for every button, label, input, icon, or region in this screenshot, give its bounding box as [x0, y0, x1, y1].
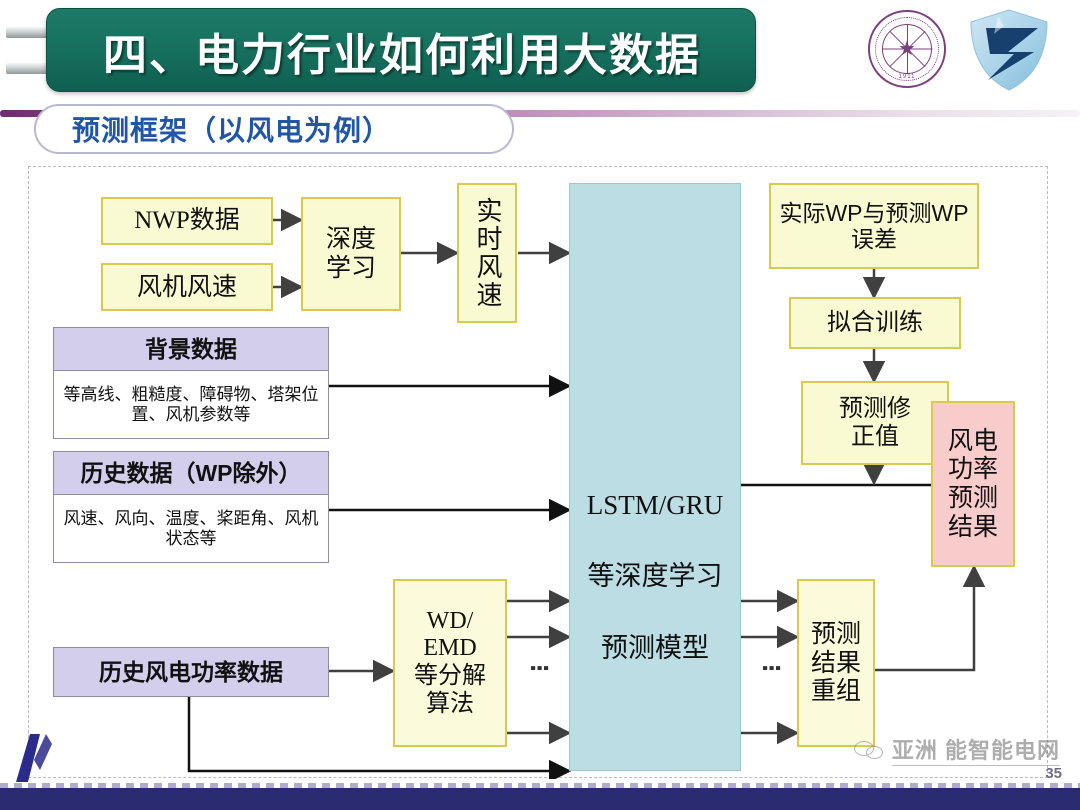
footer-band — [0, 788, 1080, 810]
node-background-data-body: 等高线、粗糙度、障碍物、塔架位置、风机参数等 — [53, 371, 329, 439]
page-title: 四、电力行业如何利用大数据 — [47, 9, 757, 93]
node-history-data-header[interactable]: 历史数据（WP除外） — [53, 451, 329, 495]
node-label: 历史数据（WP除外） — [80, 460, 301, 486]
node-forecast-correction-value[interactable]: 预测修 正值 — [801, 381, 949, 465]
page-number: 35 — [1045, 765, 1062, 782]
node-nwp-data[interactable]: NWP数据 — [101, 197, 273, 245]
core-label-1: LSTM/GRU — [587, 490, 724, 521]
node-final-wind-power-forecast-result[interactable]: 风电功率预测结果 — [931, 401, 1015, 567]
node-label: 拟合训练 — [827, 309, 923, 337]
node-label: 风电功率预测结果 — [939, 427, 1007, 542]
node-lstm-gru-core-model[interactable]: LSTM/GRU 等深度学习 预测模型 — [569, 183, 741, 771]
node-label: 预测修 正值 — [839, 395, 911, 450]
node-label: 风速、风向、温度、桨距角、风机状态等 — [62, 509, 320, 548]
section-subtitle: 预测框架（以风电为例） — [34, 104, 514, 154]
node-actual-vs-forecast-wp-error[interactable]: 实际WP与预测WP误差 — [769, 183, 979, 269]
node-label: NWP数据 — [134, 207, 240, 236]
watermark-label: 亚洲 能智能电网 — [892, 733, 1060, 766]
node-background-data-header[interactable]: 背景数据 — [53, 327, 329, 371]
node-label: 预测 结果 重组 — [811, 620, 861, 706]
node-history-wind-power-data[interactable]: 历史风电功率数据 — [53, 647, 329, 697]
corner-logo-icon — [8, 730, 68, 786]
core-label-2: 等深度学习 — [588, 561, 723, 592]
shield-logo-icon — [968, 8, 1050, 92]
seal-year: 1911 — [870, 74, 944, 80]
seal-star-icon: ★ — [898, 39, 916, 59]
node-label: 等高线、粗糙度、障碍物、塔架位置、风机参数等 — [62, 385, 320, 424]
node-label: 历史风电功率数据 — [99, 659, 283, 685]
node-deep-learning[interactable]: 深度 学习 — [301, 197, 401, 311]
node-label: 风机风速 — [137, 273, 237, 302]
slide-header: 四、电力行业如何利用大数据 ★ 1911 — [0, 0, 1080, 96]
node-label: 实时风速 — [472, 197, 502, 309]
flow-diagram-canvas: NWP数据 风机风速 深度 学习 实时风速 背景数据 等高线、粗糙度、障碍物、塔… — [28, 166, 1048, 778]
node-label: 深度 学习 — [326, 225, 376, 283]
core-label-3: 预测模型 — [601, 633, 709, 664]
node-label: WD/ EMD 等分解 算法 — [414, 608, 486, 718]
node-label: 实际WP与预测WP误差 — [779, 200, 969, 253]
ellipsis-recombine: ⋮ — [765, 657, 778, 677]
wechat-watermark: 亚洲 能智能电网 — [854, 733, 1060, 766]
tsinghua-seal-icon: ★ 1911 — [868, 10, 946, 88]
ellipsis-decomp: ⋮ — [533, 657, 546, 677]
slide: 四、电力行业如何利用大数据 ★ 1911 — [0, 0, 1080, 810]
node-wd-emd-decomposition[interactable]: WD/ EMD 等分解 算法 — [393, 579, 507, 747]
node-fitting-training[interactable]: 拟合训练 — [789, 297, 961, 349]
node-history-data-body: 风速、风向、温度、桨距角、风机状态等 — [53, 495, 329, 563]
title-plate: 四、电力行业如何利用大数据 — [46, 8, 756, 92]
node-label: 背景数据 — [145, 336, 237, 362]
wechat-icon — [854, 739, 886, 761]
section-subtitle-label: 预测框架（以风电为例） — [72, 109, 391, 149]
node-realtime-wind-speed[interactable]: 实时风速 — [457, 183, 517, 323]
node-turbine-wind-speed[interactable]: 风机风速 — [101, 263, 273, 311]
wechat-bubble-small — [866, 746, 883, 759]
node-forecast-result-recombination[interactable]: 预测 结果 重组 — [797, 579, 875, 747]
